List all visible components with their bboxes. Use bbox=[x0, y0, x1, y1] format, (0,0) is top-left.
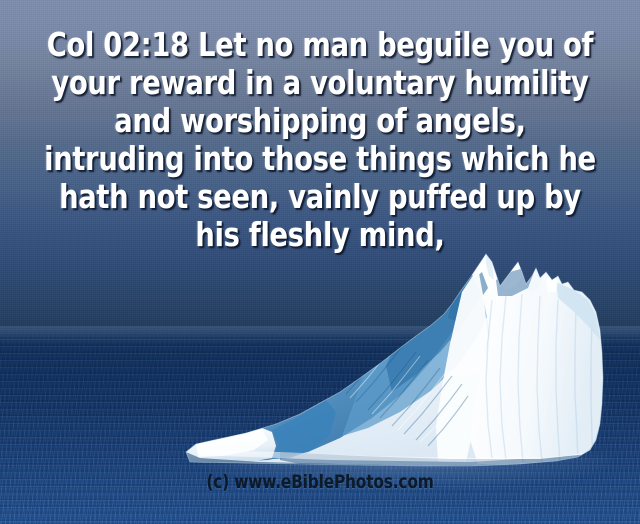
watermark-credit: (c) www.eBiblePhotos.com bbox=[32, 471, 608, 493]
bible-verse-photo: Col 02:18 Let no man beguile you of your… bbox=[0, 0, 640, 524]
ocean-layer bbox=[0, 334, 640, 524]
verse-text: Col 02:18 Let no man beguile you of your… bbox=[26, 26, 615, 254]
